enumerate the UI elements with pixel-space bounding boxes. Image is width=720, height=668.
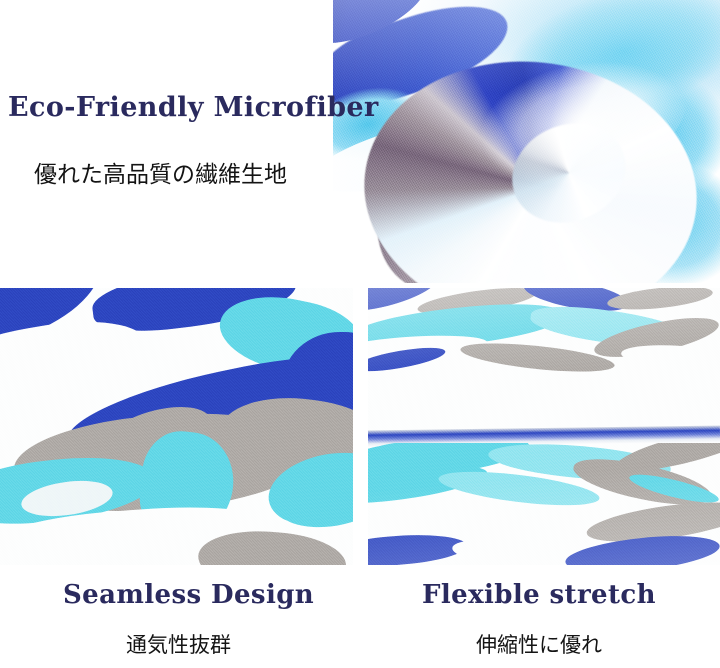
feature-subtitle-eco-friendly-microfiber: 優れた高品質の繊維生地 <box>34 155 287 189</box>
feature-image-seamless-design <box>0 288 353 565</box>
fabric-sheen-overlay <box>368 288 720 565</box>
fabric-sheen-overlay <box>333 0 720 283</box>
feature-subtitle-flexible-stretch: 伸縮性に優れ <box>476 629 602 659</box>
feature-subtitle-seamless-design: 通気性抜群 <box>126 629 231 659</box>
feature-image-flexible-stretch <box>368 288 720 565</box>
fabric-grain-texture <box>0 288 353 565</box>
feature-headline-seamless-design: Seamless Design <box>63 580 314 610</box>
feature-image-eco-friendly-microfiber <box>333 0 720 283</box>
feature-headline-eco-friendly-microfiber: Eco-Friendly Microfiber <box>8 92 379 123</box>
feature-headline-flexible-stretch: Flexible stretch <box>422 580 656 610</box>
